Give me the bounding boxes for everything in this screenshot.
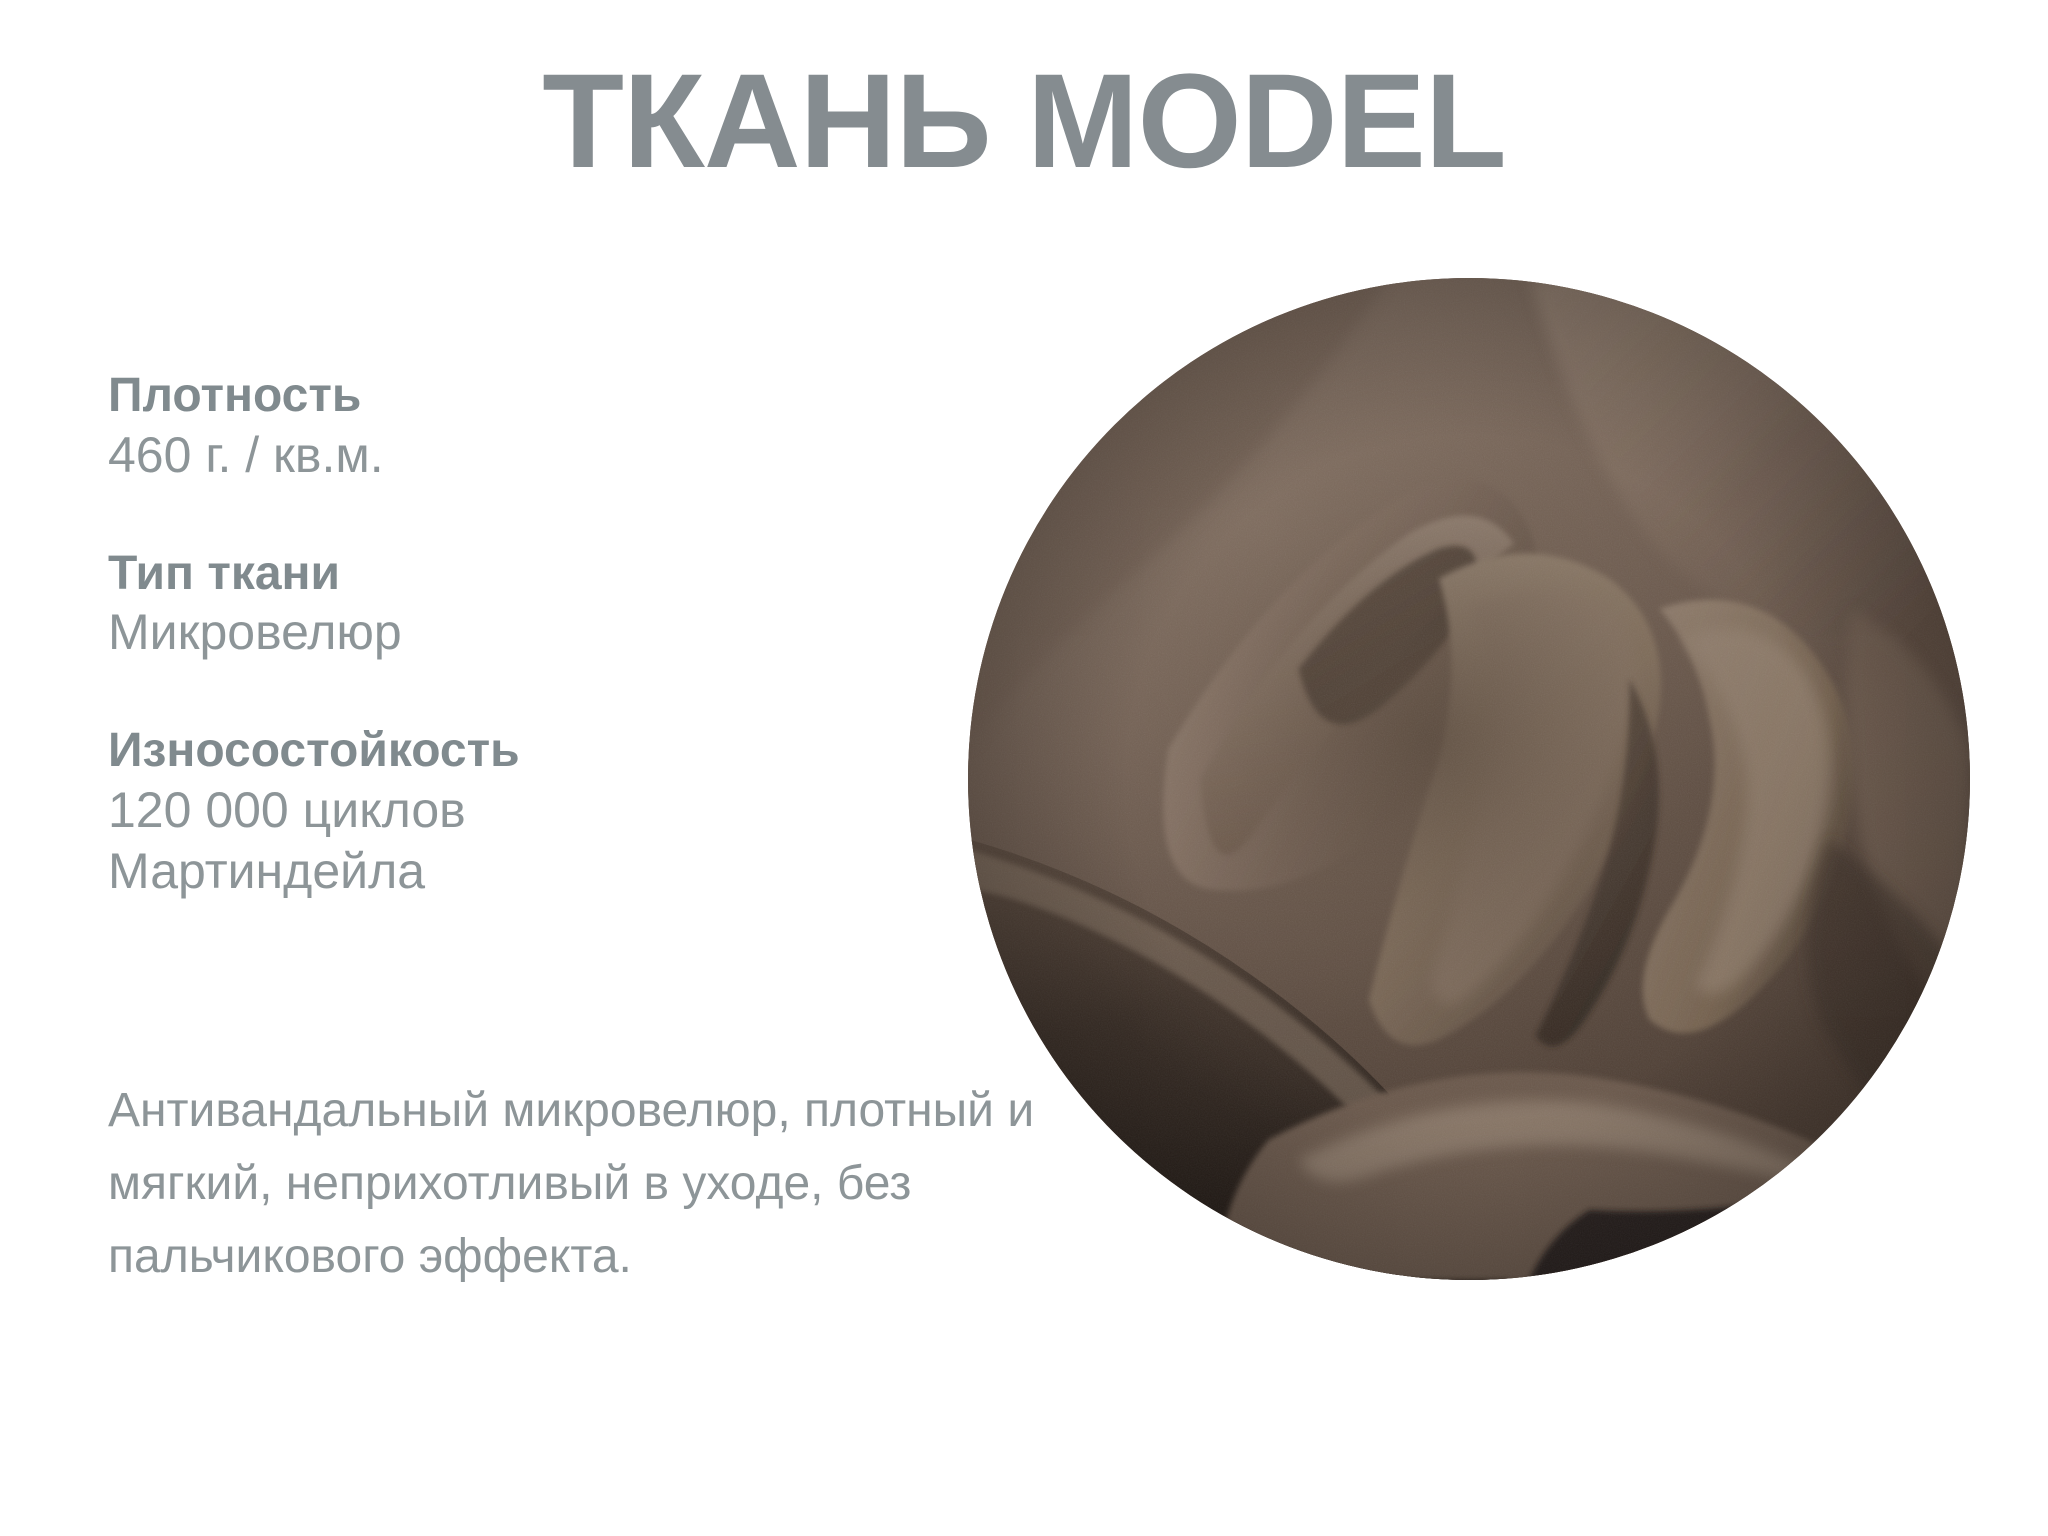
- spec-label-fabric-type: Тип ткани: [108, 546, 968, 603]
- spec-item-density: Плотность 460 г. / кв.м.: [108, 368, 968, 486]
- slide-root: ТКАНЬ MODEL Плотность 460 г. / кв.м. Тип…: [0, 0, 2048, 1536]
- spec-value-line: Микровелюр: [108, 602, 968, 663]
- spec-value-line: Мартиндейла: [108, 841, 968, 902]
- spec-list: Плотность 460 г. / кв.м. Тип ткани Микро…: [108, 368, 968, 902]
- spec-item-durability: Износостойкость 120 000 циклов Мартиндей…: [108, 723, 968, 902]
- spec-label-density: Плотность: [108, 368, 968, 425]
- spec-value-line: 120 000 циклов: [108, 780, 968, 841]
- spec-label-durability: Износостойкость: [108, 723, 968, 780]
- fabric-photo-illustration: [968, 278, 1970, 1280]
- fabric-photo: [968, 278, 1970, 1280]
- description-text: Антивандальный микровелюр, плотный и мяг…: [108, 1075, 1048, 1294]
- spec-item-fabric-type: Тип ткани Микровелюр: [108, 546, 968, 664]
- spec-value-density: 460 г. / кв.м.: [108, 425, 968, 486]
- spec-value-line: 460 г. / кв.м.: [108, 425, 968, 486]
- spec-value-fabric-type: Микровелюр: [108, 602, 968, 663]
- spec-value-durability: 120 000 циклов Мартиндейла: [108, 780, 968, 902]
- page-title: ТКАНЬ MODEL: [0, 52, 2048, 191]
